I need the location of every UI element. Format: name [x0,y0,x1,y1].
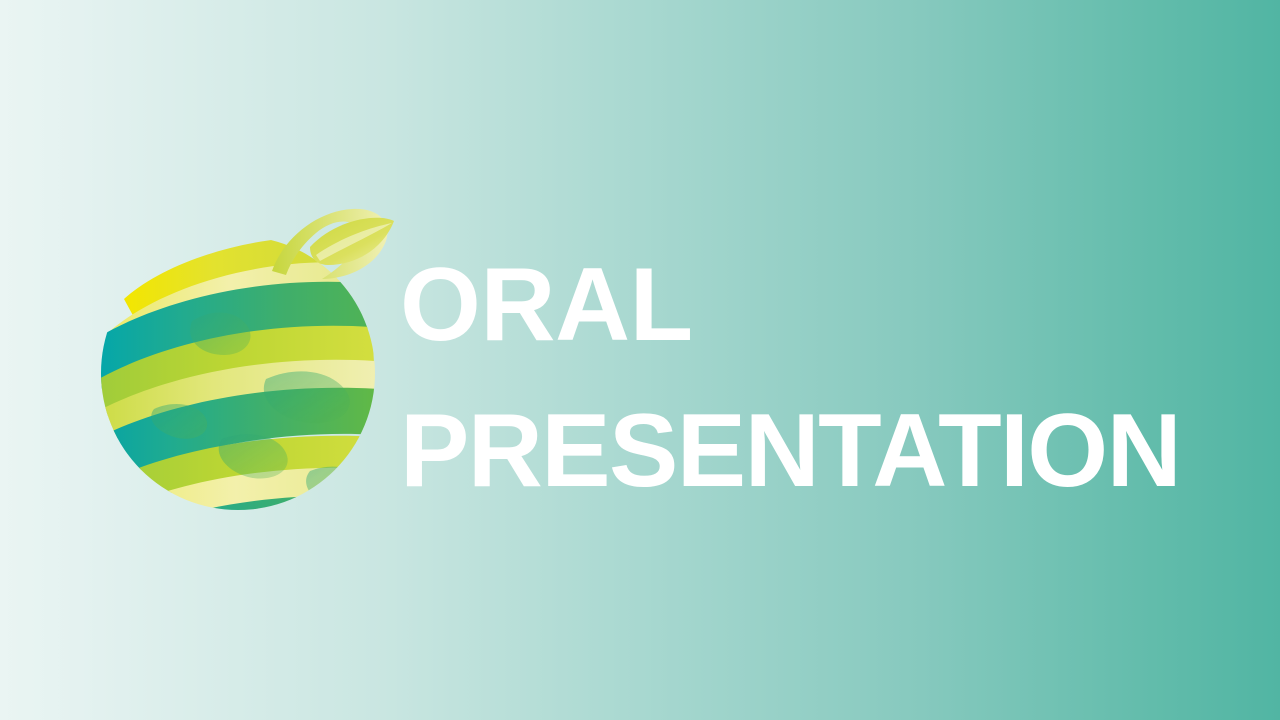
ribbon-band-8 [86,468,386,557]
title-line-1: ORAL [400,232,1200,378]
ribbon-band-9 [92,496,388,597]
slide-title: ORAL PRESENTATION [400,232,1200,524]
presentation-slide: ORAL PRESENTATION [0,0,1280,720]
globe-ribbon-bands [78,236,390,625]
title-line-2: PRESENTATION [400,378,1200,524]
ribbon-band-10 [108,542,390,625]
organization-logo [96,203,380,518]
